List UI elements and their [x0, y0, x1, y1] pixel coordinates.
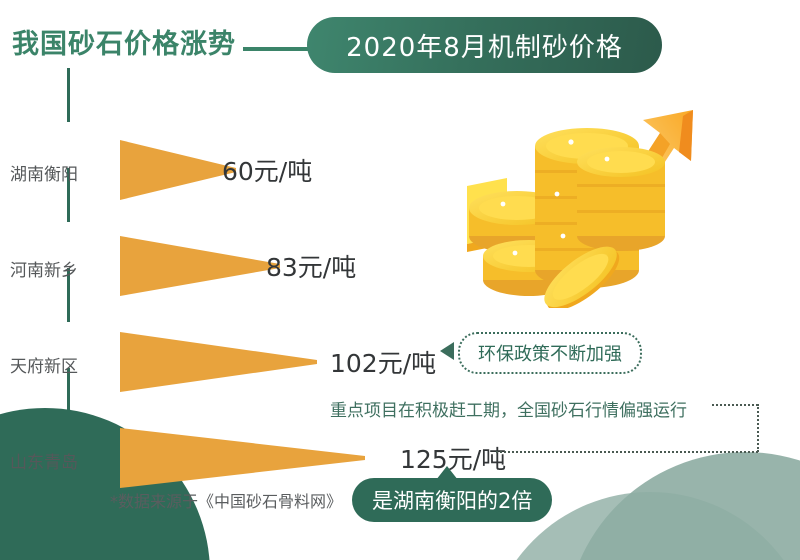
coin-stack-right: [577, 147, 665, 251]
data-source-footnote: *数据来源于《中国砂石骨料网》: [110, 488, 342, 512]
value-bar-0: [120, 140, 236, 200]
row-value-2: 102元/吨: [330, 344, 436, 380]
value-bar-3: [120, 428, 365, 488]
policy-callout: 环保政策不断加强: [458, 332, 642, 374]
row-label-3: 山东青岛: [10, 448, 120, 473]
row-label-0: 湖南衡阳: [10, 160, 120, 185]
connector-dotted-bottom: [496, 451, 758, 453]
value-bar-1: [120, 236, 280, 296]
row-value-1: 83元/吨: [266, 248, 356, 284]
infographic-canvas: 我国砂石价格涨势 2020年8月机制砂价格 湖南衡阳60元/吨河南新乡83元/吨…: [0, 0, 800, 560]
connector-dotted-top: [712, 404, 758, 406]
policy-callout-arrow: [440, 342, 454, 360]
row-value-0: 60元/吨: [222, 152, 312, 188]
coin-stack-icon: [455, 58, 755, 308]
page-title: 我国砂石价格涨势: [12, 22, 236, 61]
market-note-text: 重点项目在积极赶工期，全国砂石行情偏强运行: [330, 396, 687, 421]
value-bar-2: [120, 332, 317, 392]
row-label-2: 天府新区: [10, 352, 120, 377]
comparison-bubble-text: 是湖南衡阳的2倍: [372, 485, 532, 515]
title-divider-rule: [243, 47, 315, 51]
comparison-bubble: 是湖南衡阳的2倍: [352, 478, 552, 522]
connector-dotted-vertical: [757, 404, 759, 452]
policy-callout-text: 环保政策不断加强: [478, 340, 622, 366]
row-label-1: 河南新乡: [10, 256, 120, 281]
